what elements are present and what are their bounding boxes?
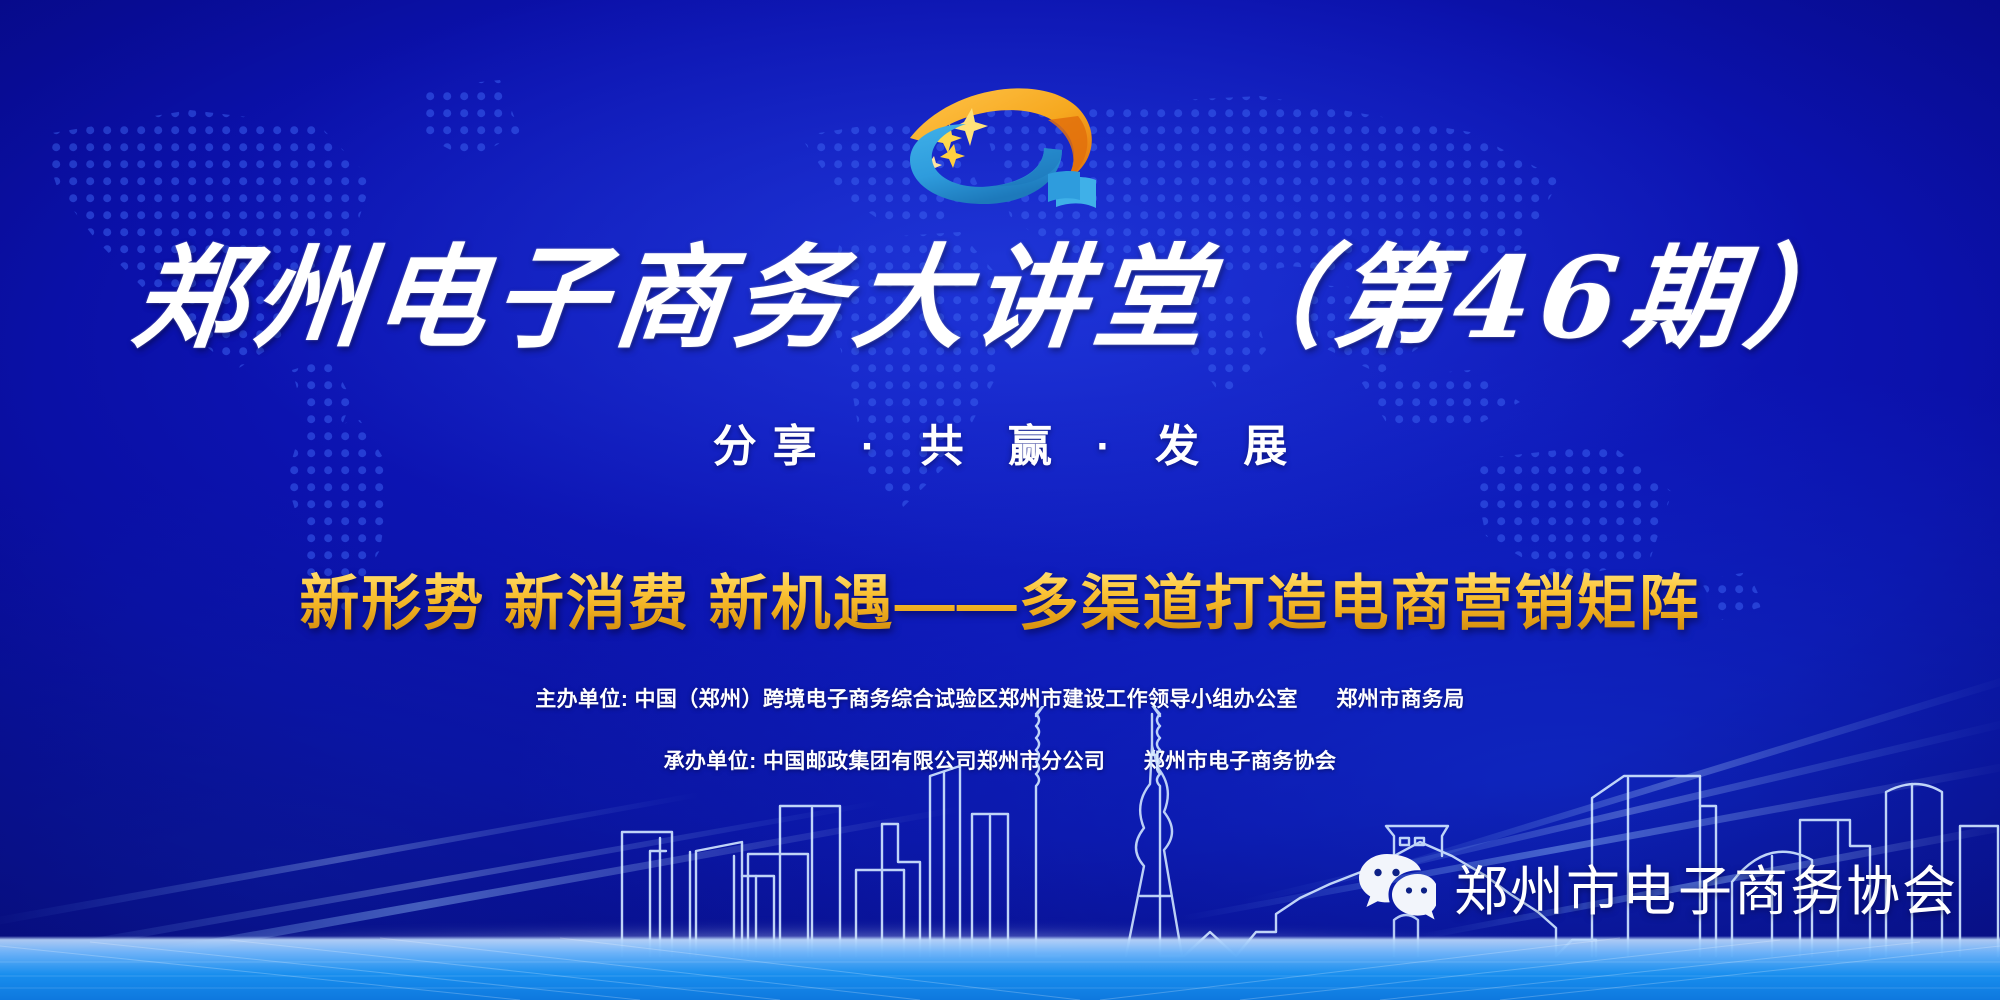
poster-stage: 郑州电子商务大讲堂（第46期） 分享 · 共 赢 · 发 展 新形势 新消费 新… xyxy=(0,0,2000,1000)
host-label: 主办单位: xyxy=(535,688,628,711)
host-value-2: 郑州市商务局 xyxy=(1336,688,1464,711)
co-value-2: 郑州市电子商务协会 xyxy=(1144,750,1337,773)
zhengzhou-ecommerce-logo-icon xyxy=(880,76,1120,211)
session-headline: 新形势 新消费 新机遇——多渠道打造电商营销矩阵 xyxy=(0,555,2000,642)
host-value: 中国（郑州）跨境电子商务综合试验区郑州市建设工作领导小组办公室 xyxy=(634,688,1297,711)
page-title: 郑州电子商务大讲堂（第46期） xyxy=(0,243,2000,355)
wechat-account-badge[interactable]: 郑州市电子商务协会 xyxy=(1358,847,1958,926)
wechat-account-name: 郑州市电子商务协会 xyxy=(1454,847,1958,926)
co-value: 中国邮政集团有限公司郑州市分公司 xyxy=(763,750,1105,773)
subtitle: 分享 · 共 赢 · 发 展 xyxy=(0,410,2000,474)
ground-band xyxy=(0,936,2000,1000)
host-organizer-line: 主办单位: 中国（郑州）跨境电子商务综合试验区郑州市建设工作领导小组办公室 郑州… xyxy=(0,683,2000,713)
co-organizer-line: 承办单位: 中国邮政集团有限公司郑州市分公司 郑州市电子商务协会 xyxy=(0,745,2000,775)
wechat-icon xyxy=(1358,852,1436,922)
co-label: 承办单位: xyxy=(664,750,757,773)
